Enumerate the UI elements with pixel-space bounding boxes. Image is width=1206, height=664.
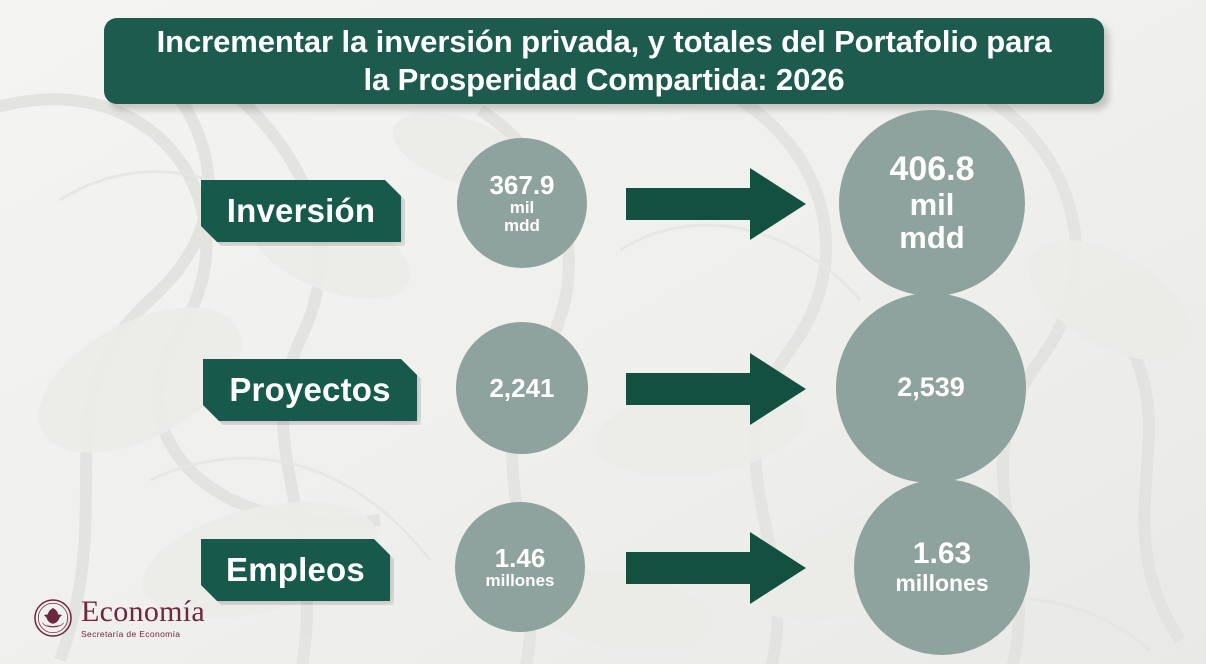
bubble-from-empleos: 1.46 millones: [455, 502, 585, 632]
bubble-unit: mil mdd: [899, 188, 964, 255]
bubble-value: 1.46: [495, 544, 546, 572]
label-text-empleos: Empleos: [226, 551, 365, 589]
label-text-inversion: Inversión: [227, 192, 376, 230]
arrow-right-icon-inversion: [626, 166, 806, 242]
bubble-from-inversion: 367.9 mil mdd: [457, 138, 587, 268]
page-title: Incrementar la inversión privada, y tota…: [157, 23, 1052, 99]
title-banner: Incrementar la inversión privada, y tota…: [104, 18, 1104, 104]
bubble-value: 2,539: [897, 373, 965, 402]
bubble-unit: millones: [486, 572, 555, 590]
bubble-value: 406.8: [889, 151, 974, 188]
bubble-value: 2,241: [489, 374, 554, 402]
bubble-to-inversion: 406.8 mil mdd: [839, 110, 1025, 296]
bubble-value: 1.63: [913, 538, 971, 570]
mexico-eagle-seal-icon: [34, 599, 72, 637]
bubble-to-proyectos: 2,539: [836, 293, 1026, 483]
logo-title: Economía: [81, 597, 205, 627]
logo-wordmark: Economía Secretaría de Economía: [81, 597, 205, 639]
bubble-unit: millones: [895, 571, 988, 596]
arrow-right-icon-empleos: [626, 530, 806, 606]
label-text-proyectos: Proyectos: [229, 371, 390, 409]
arrow-right-icon-proyectos: [626, 351, 806, 427]
label-banner-proyectos: Proyectos: [203, 359, 417, 421]
label-banner-empleos: Empleos: [201, 539, 390, 601]
label-banner-inversion: Inversión: [201, 180, 401, 242]
bubble-unit: mil mdd: [504, 199, 540, 236]
bubble-value: 367.9: [489, 171, 554, 199]
bubble-from-proyectos: 2,241: [456, 322, 588, 454]
economia-logo: Economía Secretaría de Economía: [34, 597, 205, 639]
logo-subtitle: Secretaría de Economía: [81, 630, 180, 639]
bubble-to-empleos: 1.63 millones: [854, 479, 1030, 655]
slide-canvas: Incrementar la inversión privada, y tota…: [0, 0, 1206, 664]
